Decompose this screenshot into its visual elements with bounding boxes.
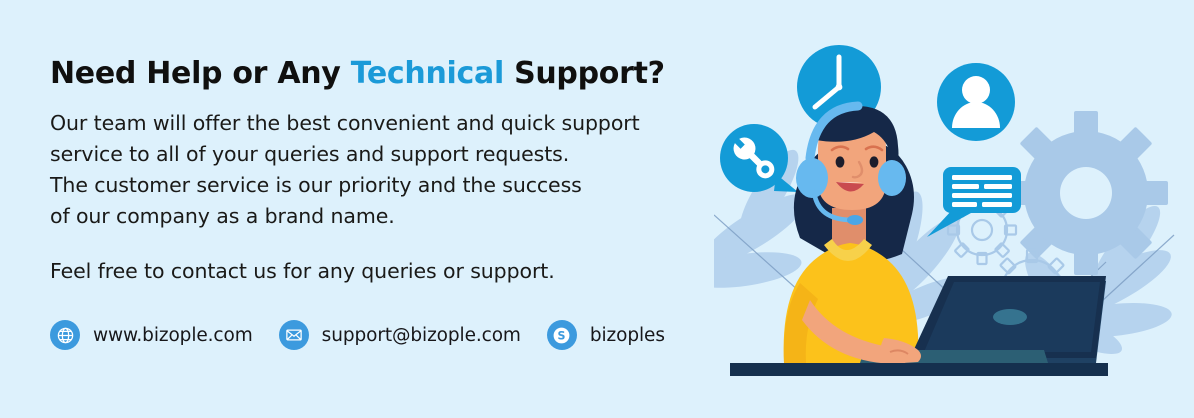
- text-column: Need Help or Any Technical Support? Our …: [50, 56, 750, 287]
- support-banner: Need Help or Any Technical Support? Our …: [0, 0, 1194, 418]
- contact-website[interactable]: www.bizople.com: [50, 320, 253, 350]
- svg-text:S: S: [558, 329, 566, 342]
- body-paragraph: Our team will offer the best convenient …: [50, 91, 750, 232]
- contact-skype[interactable]: S bizoples: [547, 320, 665, 350]
- skype-icon: S: [547, 320, 577, 350]
- closing-line: Feel free to contact us for any queries …: [50, 232, 750, 287]
- user-avatar-icon: [937, 63, 1015, 141]
- body-line-3: The customer service is our priority and…: [50, 170, 750, 201]
- globe-icon: [50, 320, 80, 350]
- contact-row: www.bizople.com support@bizople.com S bi…: [50, 320, 665, 350]
- woman-with-headset: [784, 106, 919, 363]
- body-line-4: of our company as a brand name.: [50, 201, 750, 232]
- page-title: Need Help or Any Technical Support?: [50, 56, 750, 91]
- desk: [730, 363, 1108, 376]
- page-title-part1: Need Help or Any: [50, 56, 351, 91]
- page-title-part2: Support?: [504, 56, 665, 91]
- envelope-icon: [279, 320, 309, 350]
- contact-email[interactable]: support@bizople.com: [279, 320, 521, 350]
- contact-website-label: www.bizople.com: [93, 325, 253, 346]
- body-line-2: service to all of your queries and suppo…: [50, 139, 750, 170]
- page-title-accent: Technical: [351, 56, 504, 91]
- contact-email-label: support@bizople.com: [322, 325, 521, 346]
- contact-skype-label: bizoples: [590, 325, 665, 346]
- support-agent-illustration: [714, 0, 1194, 418]
- body-line-1: Our team will offer the best convenient …: [50, 108, 750, 139]
